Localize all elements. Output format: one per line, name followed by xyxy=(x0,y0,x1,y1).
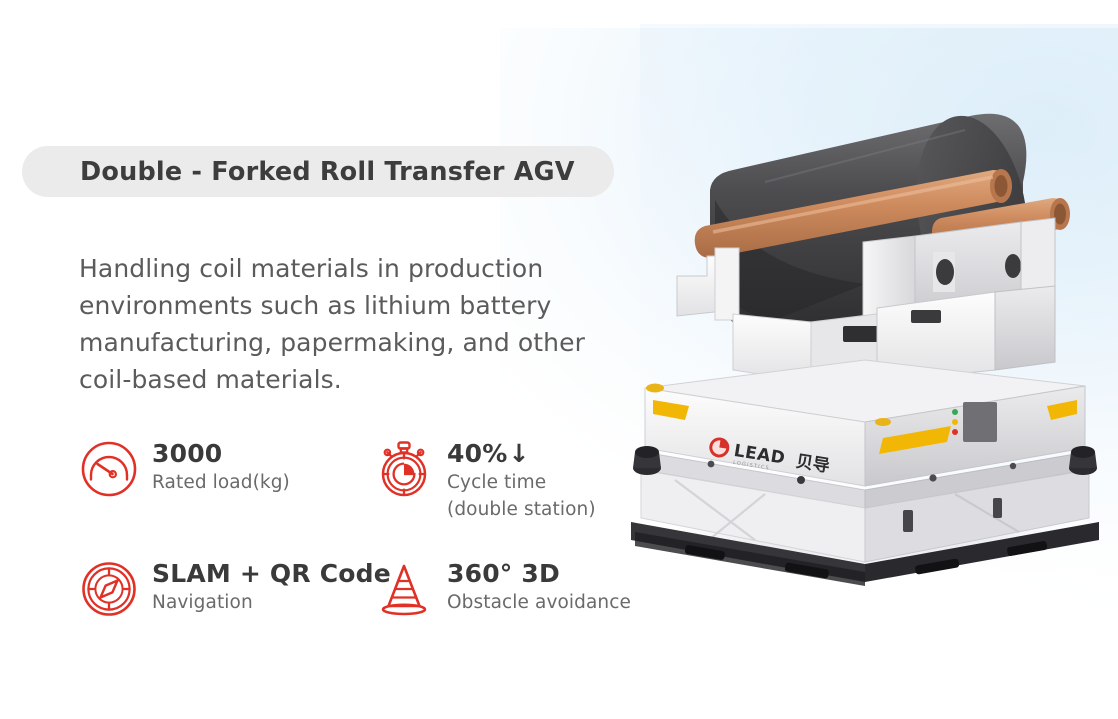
spec-item-obstacle-avoidance: 360° 3D Obstacle avoidance xyxy=(374,557,631,621)
spec-text-obstacle-avoidance: 360° 3D Obstacle avoidance xyxy=(447,557,631,615)
spec-label-secondary: (double station) xyxy=(447,498,596,522)
spec-item-rated-load: 3000 Rated load(kg) xyxy=(79,437,374,557)
specs-row-1: 3000 Rated load(kg) xyxy=(79,437,649,557)
spec-value: 3000 xyxy=(152,440,290,468)
arrow-down-icon: ↓ xyxy=(508,440,529,468)
product-image-agv: LEAD 贝导 LOGISTICS xyxy=(615,70,1118,630)
spec-value: 40%↓ xyxy=(447,440,596,468)
spec-value: SLAM + QR Code xyxy=(152,560,391,588)
traffic-cone-icon xyxy=(374,559,434,621)
description-text: Handling coil materials in production en… xyxy=(79,250,645,398)
spec-value: 360° 3D xyxy=(447,560,631,588)
spec-value-number: 360° 3D xyxy=(447,560,560,588)
product-slide: Double - Forked Roll Transfer AGV Handli… xyxy=(0,0,1118,719)
spec-label: Navigation xyxy=(152,591,391,615)
gauge-icon xyxy=(79,439,139,501)
spec-value-number: 3000 xyxy=(152,440,222,468)
spec-text-cycle-time: 40%↓ Cycle time (double station) xyxy=(447,437,596,522)
compass-icon xyxy=(79,559,139,621)
spec-label: Cycle time xyxy=(447,471,596,495)
spec-item-cycle-time: 40%↓ Cycle time (double station) xyxy=(374,437,596,557)
spec-text-rated-load: 3000 Rated load(kg) xyxy=(152,437,290,495)
spec-label: Obstacle avoidance xyxy=(447,591,631,615)
specs-row-2: SLAM + QR Code Navigation xyxy=(79,557,649,621)
spec-text-navigation: SLAM + QR Code Navigation xyxy=(152,557,391,615)
spec-item-navigation: SLAM + QR Code Navigation xyxy=(79,557,374,621)
spec-value-number: SLAM + QR Code xyxy=(152,560,391,588)
specs-grid: 3000 Rated load(kg) xyxy=(79,437,649,621)
page-title: Double - Forked Roll Transfer AGV xyxy=(80,157,575,187)
stopwatch-icon xyxy=(374,439,434,501)
agv-chassis: LEAD 贝导 LOGISTICS xyxy=(631,360,1099,586)
spec-label: Rated load(kg) xyxy=(152,471,290,495)
spec-value-number: 40% xyxy=(447,440,507,468)
title-pill: Double - Forked Roll Transfer AGV xyxy=(22,146,614,197)
